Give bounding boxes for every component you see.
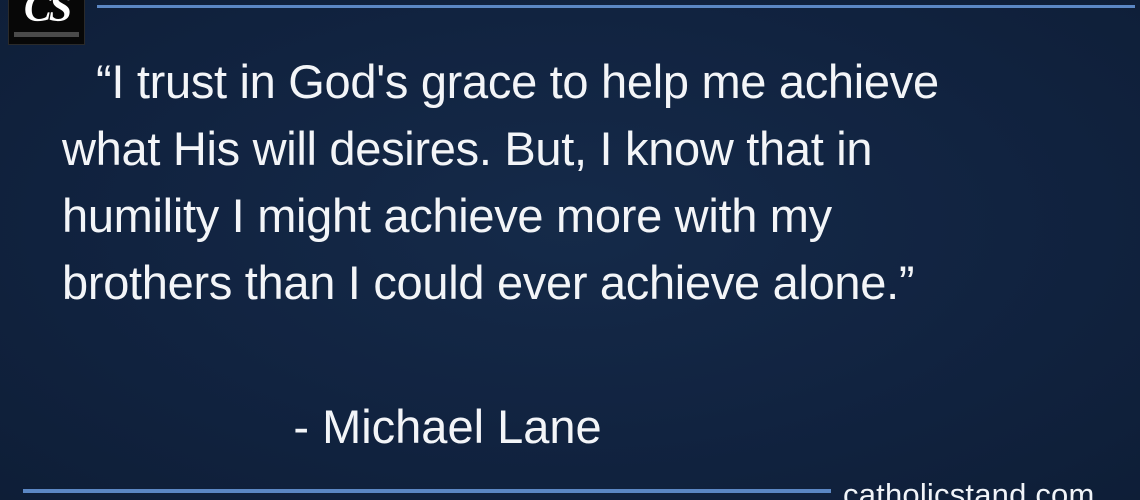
top-divider-rule — [97, 5, 1135, 8]
logo-mark-text: CS — [9, 0, 84, 32]
quote-card: CS “I trust in God's grace to help me ac… — [0, 0, 1140, 500]
catholic-stand-logo[interactable]: CS — [8, 0, 85, 45]
quote-line-1: “I trust in God's grace to help me achie… — [62, 48, 1082, 115]
quote-line-2: what His will desires. But, I know that … — [62, 115, 1082, 182]
bottom-divider-rule — [23, 489, 831, 493]
quote-line-3: humility I might achieve more with my — [62, 182, 1082, 249]
quote-line-4: brothers than I could ever achieve alone… — [62, 249, 1082, 316]
logo-underbar — [14, 32, 79, 37]
quote-attribution: - Michael Lane — [0, 396, 1140, 458]
quote-text: “I trust in God's grace to help me achie… — [62, 48, 1082, 316]
site-url-label[interactable]: catholicstand.com — [843, 478, 1095, 500]
